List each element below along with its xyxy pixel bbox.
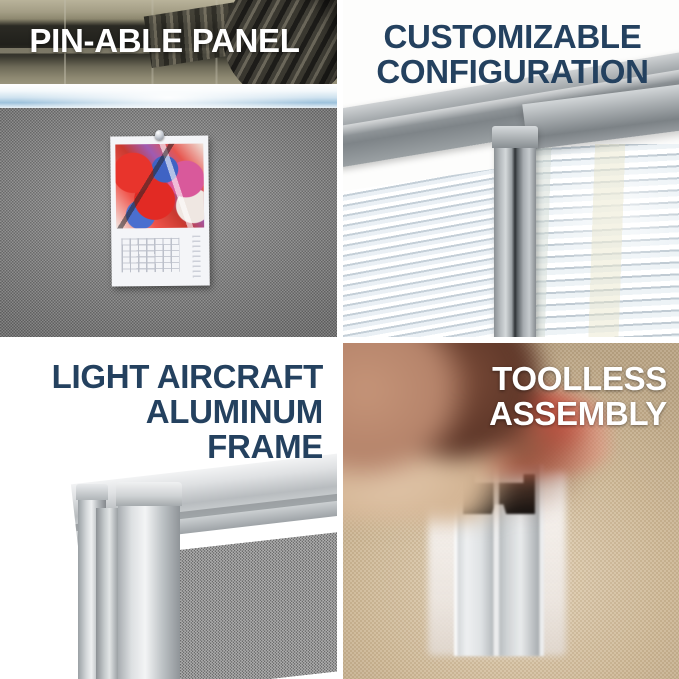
ceiling-light-band bbox=[0, 84, 337, 110]
panel-toolless-assembly: TOOLLESS ASSEMBLY bbox=[342, 342, 679, 679]
calendar-date-grid bbox=[121, 238, 179, 273]
photo-aluminum-frame bbox=[0, 342, 337, 679]
divider-horizontal bbox=[0, 337, 679, 343]
aluminum-post-front-cap bbox=[116, 482, 182, 506]
aluminum-post-rear-cap bbox=[76, 484, 108, 500]
aluminum-post-front bbox=[118, 500, 180, 679]
glass-panel-left-blinds bbox=[342, 168, 500, 337]
photo-pin-able-panel bbox=[0, 0, 337, 337]
panel-light-aircraft-aluminum-frame: LIGHT AIRCRAFT ALUMINUM FRAME bbox=[0, 342, 337, 679]
panel-pin-able-panel: PIN-ABLE PANEL bbox=[0, 0, 337, 337]
calendar-side-text bbox=[192, 236, 200, 280]
aluminum-post-cap bbox=[492, 126, 538, 148]
push-pin-icon bbox=[155, 130, 164, 140]
feature-infographic: PIN-ABLE PANEL CUSTOMIZABLE CONFIGURATIO… bbox=[0, 0, 679, 679]
hands-blur bbox=[342, 342, 612, 522]
photo-toolless-assembly bbox=[342, 342, 679, 679]
fabric-panel-insert bbox=[180, 530, 337, 679]
calendar-artwork bbox=[115, 144, 204, 229]
photo-customizable-configuration bbox=[342, 0, 679, 337]
aluminum-corner-post bbox=[494, 130, 536, 337]
glass-panel-right-blinds bbox=[528, 144, 679, 337]
panel-customizable-configuration: CUSTOMIZABLE CONFIGURATION bbox=[342, 0, 679, 337]
pinned-calendar bbox=[110, 135, 210, 286]
